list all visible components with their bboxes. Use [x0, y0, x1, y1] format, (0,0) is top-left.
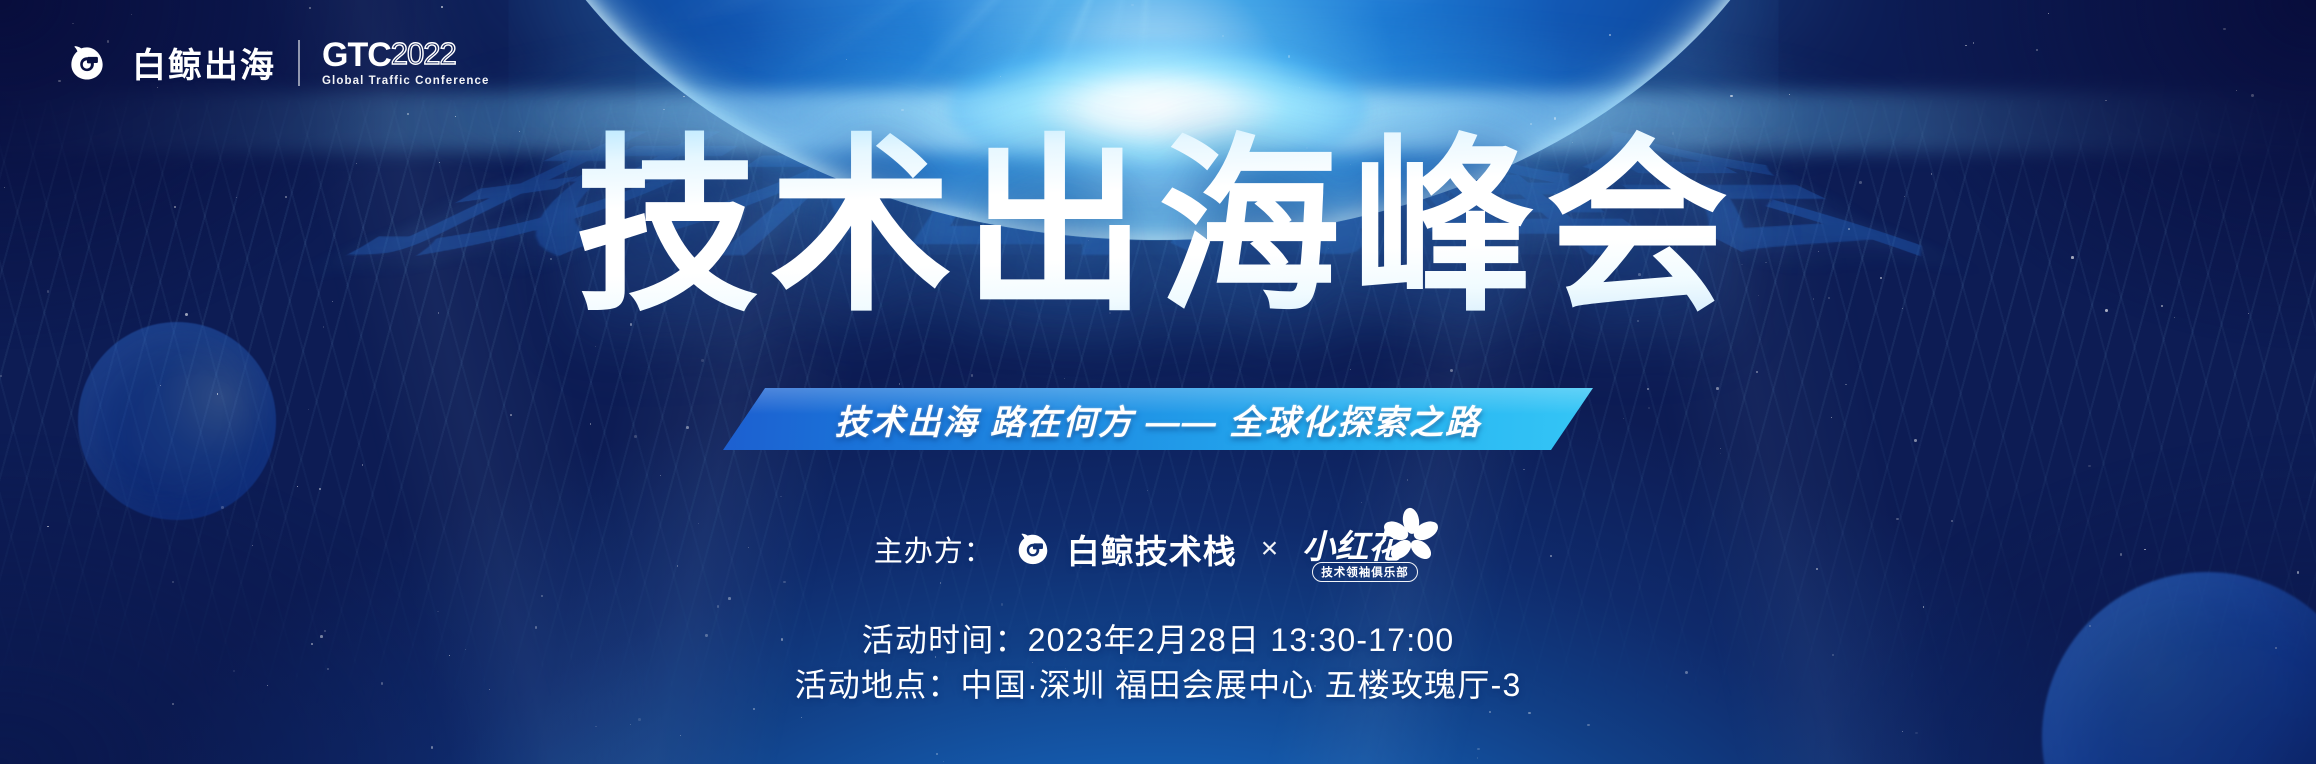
gtc-abbr: GTC: [322, 38, 391, 72]
event-time-line: 活动时间：2023年2月28日 13:30-17:00: [0, 618, 2316, 663]
hero-subtitle-banner: 技术出海 路在何方 —— 全球化探索之路: [723, 388, 1593, 450]
flower-icon: [1380, 506, 1442, 568]
organizer-label: 主办方：: [874, 528, 994, 570]
organizer-primary: 白鲸技术栈: [1012, 525, 1237, 573]
logo-divider: [298, 40, 300, 86]
brand-logo-bar: 白鲸出海 GTC 2022 Global Traffic Conference: [64, 38, 489, 87]
gtc-full-name: Global Traffic Conference: [322, 75, 489, 87]
organizer-primary-name: 白鲸技术栈: [1067, 525, 1237, 573]
hero-subtitle: 技术出海 路在何方 —— 全球化探索之路: [835, 395, 1481, 444]
organizer-partner: 小红花 技术领袖俱乐部: [1302, 512, 1442, 586]
event-venue-line: 活动地点：中国·深圳 福田会展中心 五楼玫瑰厅-3: [0, 663, 2316, 708]
event-details: 活动时间：2023年2月28日 13:30-17:00 活动地点：中国·深圳 福…: [0, 618, 2316, 709]
event-banner: 技术出海峰会 白鲸出海 GTC 2022 Global Traffic Conf…: [0, 0, 2316, 764]
brand-name-cn: 白鲸出海: [132, 38, 276, 87]
whale-g-icon: [64, 40, 110, 86]
organizer-partner-tagline: 技术领袖俱乐部: [1312, 562, 1418, 582]
organizer-row: 主办方： 白鲸技术栈 × 小红花 技术领袖俱乐部: [0, 512, 2316, 586]
gtc-year: 2022: [391, 38, 456, 69]
gtc-logo: GTC 2022 Global Traffic Conference: [322, 38, 489, 87]
whale-g-icon: [1012, 528, 1054, 570]
hero-title-wrap: 技术出海峰会: [0, 132, 2316, 323]
organizer-separator: ×: [1261, 532, 1279, 566]
hero-title: 技术出海峰会: [576, 128, 1740, 327]
